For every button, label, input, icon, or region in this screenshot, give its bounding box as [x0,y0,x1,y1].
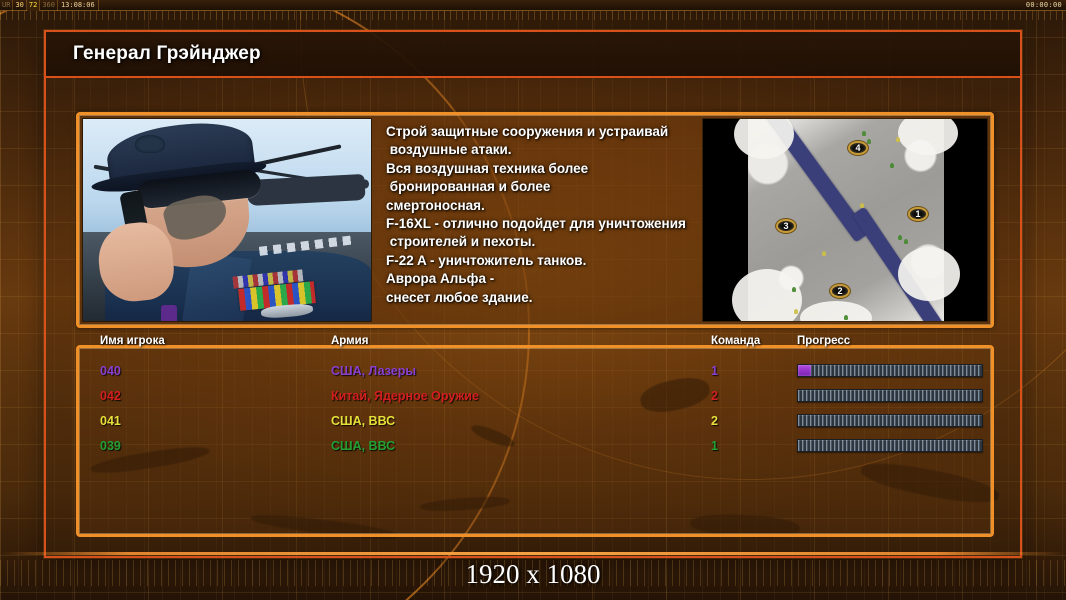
map-coast [732,269,802,322]
table-row[interactable]: 041 США, ВВС 2 [79,408,991,433]
column-header-team: Команда [711,335,797,347]
start-position-label: 4 [855,143,860,153]
start-position-label: 2 [837,286,842,296]
system-status-bar: UR 30 72 360 13:08:06 00:00:00 [0,0,1066,11]
sysbar-clock: 13:08:06 [58,0,99,11]
map-tree-icon [792,287,796,292]
map-tree-icon [862,131,866,136]
player-rows: 040 США, Лазеры 1 042 Китай, Ядерное Ору… [79,348,991,458]
map-start-position-1[interactable]: 1 [908,207,928,221]
general-description: Строй защитные сооружения и устраивай во… [372,118,702,322]
player-army: США, ВВС [331,414,711,428]
sysbar-spacer [99,0,1026,11]
page-title: Генерал Грэйнджер [73,43,261,65]
column-header-army: Армия [331,335,711,347]
sysbar-fps-cap: 72 [27,0,40,11]
map-start-position-2[interactable]: 2 [830,284,850,298]
player-name: 040 [79,364,331,378]
map-resource-icon [860,203,864,208]
player-list-panel: Имя игрока Армия Команда Прогресс 040 СШ… [76,345,994,537]
general-info-panel: Строй защитные сооружения и устраивай во… [76,112,994,328]
progress-fill [798,365,811,376]
player-army: Китай, Ядерное Оружие [331,389,711,403]
player-progress [797,364,977,377]
player-army: США, ВВС [331,439,711,453]
player-name: 041 [79,414,331,428]
map-coast [898,247,960,301]
player-progress [797,389,977,402]
cap-badge-icon [135,135,165,153]
sysbar-timer: 00:00:00 [1026,1,1066,9]
table-row[interactable]: 039 США, ВВС 1 [79,433,991,458]
map-start-position-4[interactable]: 4 [848,141,868,155]
start-position-label: 3 [783,221,788,231]
player-team: 1 [711,364,797,378]
player-army: США, Лазеры [331,364,711,378]
column-header-name: Имя игрока [79,335,331,347]
map-resource-icon [794,309,798,314]
player-team: 2 [711,414,797,428]
player-table-header: Имя игрока Армия Команда Прогресс [79,329,991,347]
player-team: 2 [711,389,797,403]
map-start-position-3[interactable]: 3 [776,219,796,233]
column-header-progress: Прогресс [797,335,977,347]
sysbar-label-ur: UR [0,0,13,11]
map-tree-icon [844,315,848,320]
map-resource-icon [896,137,900,142]
player-progress [797,414,977,427]
player-name: 042 [79,389,331,403]
resolution-label: 1920 x 1080 [0,559,1066,590]
medal-icon [161,305,177,322]
progress-bar [797,389,983,402]
progress-bar [797,364,983,377]
bottom-divider [0,552,1066,555]
map-tree-icon [898,235,902,240]
ruler-ticks-top [0,11,1066,20]
player-progress [797,439,977,452]
player-team: 1 [711,439,797,453]
sysbar-frame-count: 360 [40,0,58,11]
map-coast [734,118,794,159]
map-preview: 1 2 3 4 [702,118,988,322]
map-tree-icon [867,139,871,144]
map-tree-icon [904,239,908,244]
progress-bar [797,439,983,452]
map-coast [898,118,958,155]
map-terrain: 1 2 3 4 [748,119,944,322]
dialog-title-bar: Генерал Грэйнджер [46,32,1020,78]
progress-bar [797,414,983,427]
general-portrait [82,118,372,322]
player-name: 039 [79,439,331,453]
map-resource-icon [822,251,826,256]
table-row[interactable]: 040 США, Лазеры 1 [79,358,991,383]
start-position-label: 1 [915,209,920,219]
map-tree-icon [890,163,894,168]
general-info-dialog: Генерал Грэйнджер [44,30,1022,558]
sysbar-fps: 30 [13,0,26,11]
map-coast [800,301,872,322]
game-lobby-screen: UR 30 72 360 13:08:06 00:00:00 Генерал Г… [0,0,1066,600]
table-row[interactable]: 042 Китай, Ядерное Оружие 2 [79,383,991,408]
